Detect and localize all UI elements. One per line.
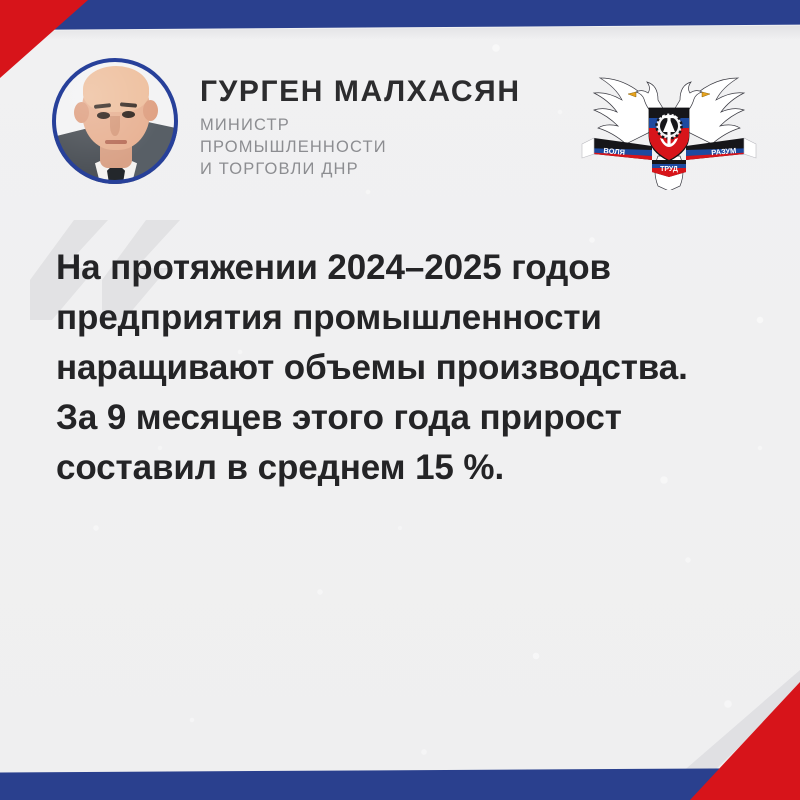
person-name: ГУРГЕН МАЛХАСЯН xyxy=(200,76,521,108)
person-role-line-1: МИНИСТР xyxy=(200,114,521,136)
header: ГУРГЕН МАЛХАСЯН МИНИСТР ПРОМЫШЛЕННОСТИ И… xyxy=(0,0,800,210)
quote-line-1: На протяжении 2024–2025 годов xyxy=(56,243,756,293)
person-role-line-2: ПРОМЫШЛЕННОСТИ xyxy=(200,136,521,158)
avatar-photo xyxy=(52,58,178,184)
person-role-line-3: И ТОРГОВЛИ ДНР xyxy=(200,158,521,180)
quote-line-4: За 9 месяцев этого года прирост xyxy=(56,393,756,443)
avatar xyxy=(52,58,178,184)
person-role: МИНИСТР ПРОМЫШЛЕННОСТИ И ТОРГОВЛИ ДНР xyxy=(200,114,521,181)
dnr-coat-of-arms-icon: ВОЛЯ РАЗУМ ТРУД xyxy=(574,60,764,190)
quote-line-3: наращивают объемы производства. xyxy=(56,343,756,393)
emblem-motto-center: ТРУД xyxy=(660,166,678,173)
portrait-light xyxy=(52,58,178,184)
emblem-motto-right: РАЗУМ xyxy=(711,146,737,157)
quote-card: ГУРГЕН МАЛХАСЯН МИНИСТР ПРОМЫШЛЕННОСТИ И… xyxy=(0,0,800,800)
speaker-titles: ГУРГЕН МАЛХАСЯН МИНИСТР ПРОМЫШЛЕННОСТИ И… xyxy=(200,76,521,180)
blue-bottom-bar xyxy=(0,768,800,800)
quote-line-5: составил в среднем 15 %. xyxy=(56,443,756,493)
quote-text: На протяжении 2024–2025 годов предприяти… xyxy=(56,243,756,493)
quote-line-2: предприятия промышленности xyxy=(56,293,756,343)
emblem-motto-left: ВОЛЯ xyxy=(603,146,625,157)
